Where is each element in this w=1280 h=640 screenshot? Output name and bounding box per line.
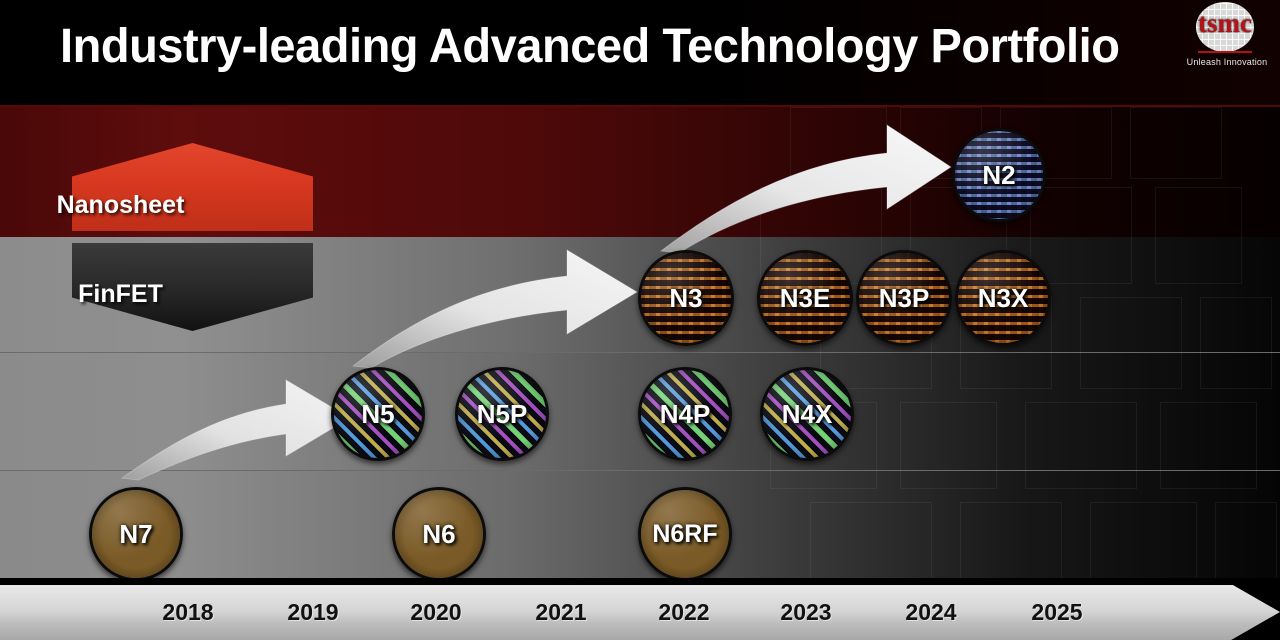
wafer-label: N2 [955, 131, 1043, 219]
wafer-label: N3 [641, 253, 731, 343]
year-2024: 2024 [876, 593, 986, 631]
year-2023: 2023 [751, 593, 861, 631]
wafer-n4p[interactable]: N4P [638, 367, 732, 461]
year-2022: 2022 [629, 593, 739, 631]
year-2020: 2020 [381, 593, 491, 631]
nanosheet-label: Nanosheet [0, 191, 241, 220]
wafer-n3p[interactable]: N3P [856, 250, 952, 346]
tsmc-logo: tsmc Unleash Innovation [1188, 2, 1266, 74]
timeline-axis: 20182019202020212022202320242025 [0, 585, 1280, 640]
wafer-n3x[interactable]: N3X [955, 250, 1051, 346]
wafer-label: N4P [641, 370, 729, 458]
wafer-label: N6 [395, 490, 483, 578]
wafer-label: N3X [958, 253, 1048, 343]
wafer-n2[interactable]: N2 [952, 128, 1046, 222]
slide-header: Industry-leading Advanced Technology Por… [0, 0, 1280, 105]
year-2018: 2018 [133, 593, 243, 631]
year-2019: 2019 [258, 593, 368, 631]
logo-underline [1198, 51, 1252, 53]
wafer-n3e[interactable]: N3E [757, 250, 853, 346]
wafer-label: N5 [334, 370, 422, 458]
wafer-label: N3P [859, 253, 949, 343]
wafer-label: N3E [760, 253, 850, 343]
wafer-n6rf[interactable]: N6RF [638, 487, 732, 581]
wafer-n7[interactable]: N7 [89, 487, 183, 581]
page-title: Industry-leading Advanced Technology Por… [60, 14, 1167, 80]
finfet-label: FinFET [0, 280, 241, 309]
year-2021: 2021 [506, 593, 616, 631]
logo-tagline: Unleash Innovation [1182, 56, 1272, 68]
wafer-n5[interactable]: N5 [331, 367, 425, 461]
slide-root: Industry-leading Advanced Technology Por… [0, 0, 1280, 640]
wafer-label: N5P [458, 370, 546, 458]
wafer-n5p[interactable]: N5P [455, 367, 549, 461]
year-2025: 2025 [1002, 593, 1112, 631]
wafer-n6[interactable]: N6 [392, 487, 486, 581]
wafer-label: N6RF [641, 490, 729, 578]
wafer-label: N4X [763, 370, 851, 458]
row-separator-1 [0, 352, 1280, 353]
band-top-edge [0, 105, 1280, 107]
logo-wordmark: tsmc [1192, 10, 1258, 37]
wafer-n3[interactable]: N3 [638, 250, 734, 346]
wafer-label: N7 [92, 490, 180, 578]
row-separator-2 [0, 470, 1280, 471]
wafer-n4x[interactable]: N4X [760, 367, 854, 461]
